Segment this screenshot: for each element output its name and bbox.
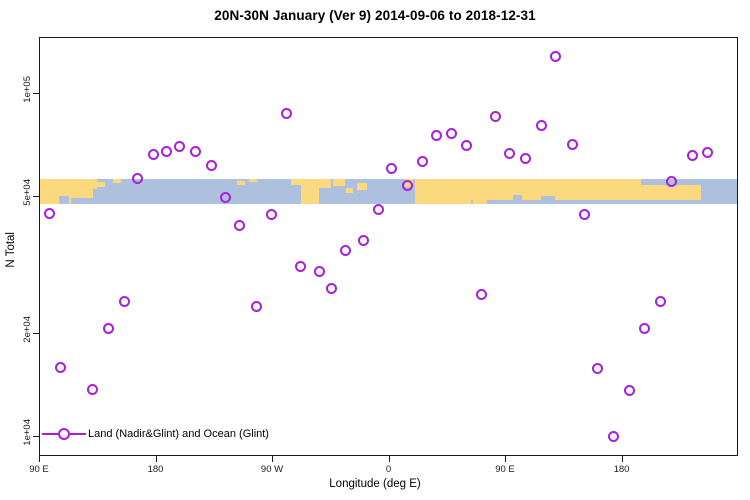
legend-marker-icon: [58, 428, 70, 440]
scatter-point: [251, 301, 262, 312]
ocean-east-tail: [701, 179, 737, 204]
scatter-point: [266, 209, 277, 220]
x-axis-label: Longitude (deg E): [0, 478, 750, 490]
scatter-point: [536, 120, 547, 131]
y-tick: [33, 196, 39, 197]
x-tick-label: 180: [148, 464, 164, 475]
scatter-point: [220, 192, 231, 203]
scatter-point: [592, 363, 603, 374]
scatter-point: [666, 176, 677, 187]
scatter-point: [174, 141, 185, 152]
land-island-c: [237, 181, 245, 185]
land-hispaniola: [357, 183, 367, 190]
land-island-b: [113, 179, 121, 183]
scatter-point: [119, 296, 130, 307]
scatter-point: [490, 111, 501, 122]
x-tick: [505, 456, 506, 462]
land-mexico: [301, 179, 319, 204]
scatter-point: [655, 296, 666, 307]
scatter-point: [417, 156, 428, 167]
scatter-point: [702, 147, 713, 158]
x-tick: [156, 456, 157, 462]
ocean-persian-gulf: [541, 196, 555, 204]
scatter-point: [567, 139, 578, 150]
y-axis-label-text: N Total: [5, 232, 17, 268]
figure-root: 20N-30N January (Ver 9) 2014-09-06 to 20…: [0, 0, 750, 500]
scatter-point: [55, 362, 66, 373]
x-tick-label: 180: [614, 464, 630, 475]
y-axis-label: N Total: [5, 0, 17, 500]
scatter-point: [608, 431, 619, 442]
legend-label: Land (Nadir&Glint) and Ocean (Glint): [88, 428, 269, 440]
scatter-point: [161, 146, 172, 157]
y-tick: [33, 93, 39, 94]
scatter-point: [190, 146, 201, 157]
land-cuba: [346, 188, 353, 193]
land-africa-sub: [473, 200, 487, 204]
land-mexico-e: [319, 179, 331, 188]
scatter-point: [386, 163, 397, 174]
x-tick: [272, 456, 273, 462]
scatter-point: [132, 173, 143, 184]
scatter-point: [687, 150, 698, 161]
scatter-point: [358, 235, 369, 246]
y-tick-label: 1e+04: [22, 419, 33, 446]
scatter-point: [314, 266, 325, 277]
y-tick: [33, 333, 39, 334]
x-tick: [389, 456, 390, 462]
legend: Land (Nadir&Glint) and Ocean (Glint): [42, 428, 269, 440]
scatter-point: [281, 108, 292, 119]
x-tick: [622, 456, 623, 462]
ocean-nick-c: [261, 197, 269, 204]
scatter-point: [295, 261, 306, 272]
y-tick-label: 1e+05: [22, 76, 33, 103]
scatter-point: [550, 51, 561, 62]
ocean-nick-b: [197, 181, 203, 186]
y-tick-label: 2e+04: [22, 316, 33, 343]
scatter-point: [461, 140, 472, 151]
ocean-red-sea: [513, 195, 522, 204]
scatter-point: [579, 209, 590, 220]
land-island-a: [97, 182, 105, 187]
scatter-point: [624, 385, 635, 396]
land-arabia-india: [641, 185, 691, 200]
scatter-point: [148, 149, 159, 160]
x-tick-label: 0: [386, 464, 391, 475]
scatter-point: [373, 204, 384, 215]
x-tick-label: 90 E: [495, 464, 515, 475]
x-tick-label: 90 E: [29, 464, 49, 475]
scatter-point: [206, 160, 217, 171]
scatter-point: [504, 148, 515, 159]
y-tick-label: 5e+04: [22, 179, 33, 206]
scatter-point: [44, 208, 55, 219]
x-tick: [39, 456, 40, 462]
land-mexico-w: [291, 179, 301, 185]
scatter-point: [431, 130, 442, 141]
scatter-point: [476, 289, 487, 300]
land-florida: [333, 179, 345, 186]
land-sahara-lower: [415, 200, 471, 204]
x-tick-label: 90 W: [261, 464, 283, 475]
chart-title: 20N-30N January (Ver 9) 2014-09-06 to 20…: [0, 8, 750, 23]
land-island-d: [249, 179, 257, 182]
scatter-point: [87, 384, 98, 395]
scatter-point: [446, 128, 457, 139]
scatter-point: [326, 283, 337, 294]
scatter-point: [340, 245, 351, 256]
plot-area: [39, 37, 738, 456]
scatter-point: [639, 323, 650, 334]
y-tick: [33, 436, 39, 437]
ocean-nick-a: [59, 196, 69, 204]
land-asia-se: [79, 179, 97, 189]
scatter-point: [402, 180, 413, 191]
scatter-point: [234, 220, 245, 231]
scatter-point: [520, 153, 531, 164]
legend-line: [42, 433, 86, 435]
scatter-point: [103, 323, 114, 334]
